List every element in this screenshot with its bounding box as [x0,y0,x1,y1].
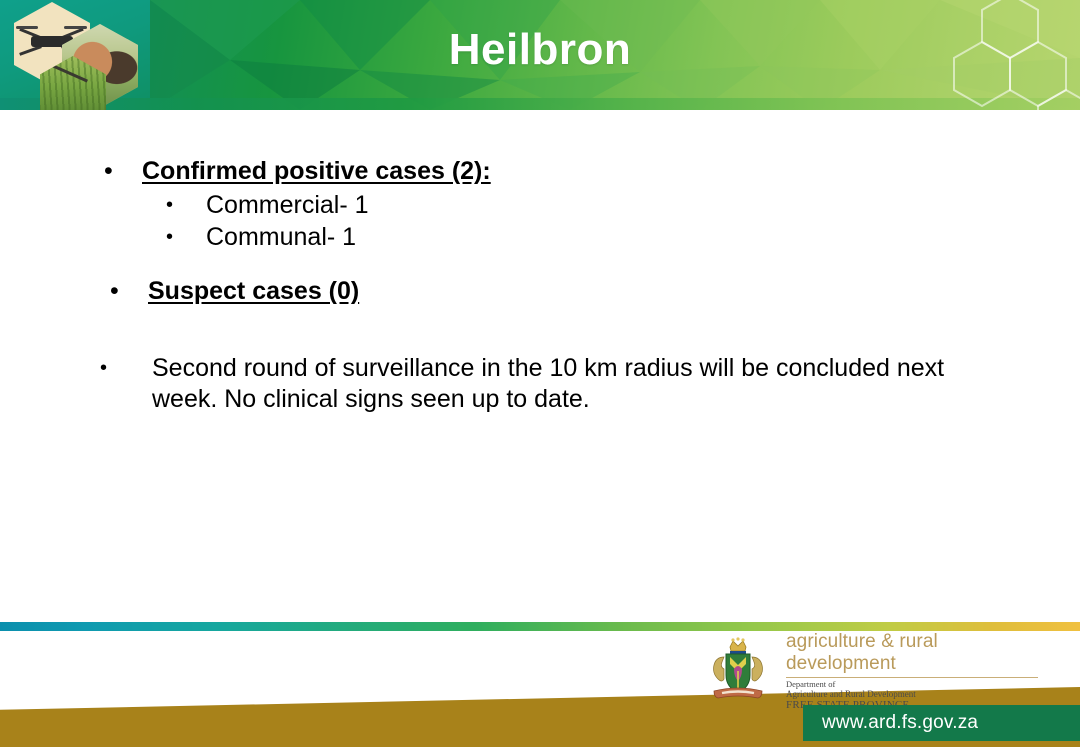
bullet-commercial: • Commercial- 1 [166,189,369,221]
department-text-block: agriculture & rural development Departme… [786,631,1038,712]
department-line-1: Department of [786,678,1038,690]
bullet-marker-icon: • [166,189,206,221]
bullet-marker-icon: • [104,156,142,186]
slide-header-banner: Heilbron [0,0,1080,110]
website-url: www.ard.fs.gov.za [822,712,978,734]
bullet-confirmed-positive-cases: • Confirmed positive cases (2): [104,156,491,186]
bullet-communal: • Communal- 1 [166,221,356,253]
department-line-2: Agriculture and Rural Development [786,689,1038,699]
bullet-second-round-surveillance: • Second round of surveillance in the 10… [100,353,980,415]
logo-title: agriculture & rural development [786,631,1038,678]
bullet-suspect-cases: • Suspect cases (0) [110,276,359,306]
bullet-label: Commercial- 1 [206,189,369,221]
department-logo: agriculture & rural development Departme… [700,633,1080,709]
bullet-marker-icon: • [100,353,152,384]
footer-accent-bar [0,622,1080,631]
bullet-label: Second round of surveillance in the 10 k… [152,353,980,415]
bullet-marker-icon: • [110,276,148,306]
bullet-marker-icon: • [166,221,206,253]
bullet-label: Confirmed positive cases (2): [142,156,491,186]
bullet-label: Suspect cases (0) [148,276,359,306]
bullet-label: Communal- 1 [206,221,356,253]
slide-content: • Confirmed positive cases (2): • Commer… [0,110,1080,615]
coat-of-arms-icon [700,635,776,707]
slide-title: Heilbron [0,0,1080,100]
website-url-box[interactable]: www.ard.fs.gov.za [803,705,1080,741]
